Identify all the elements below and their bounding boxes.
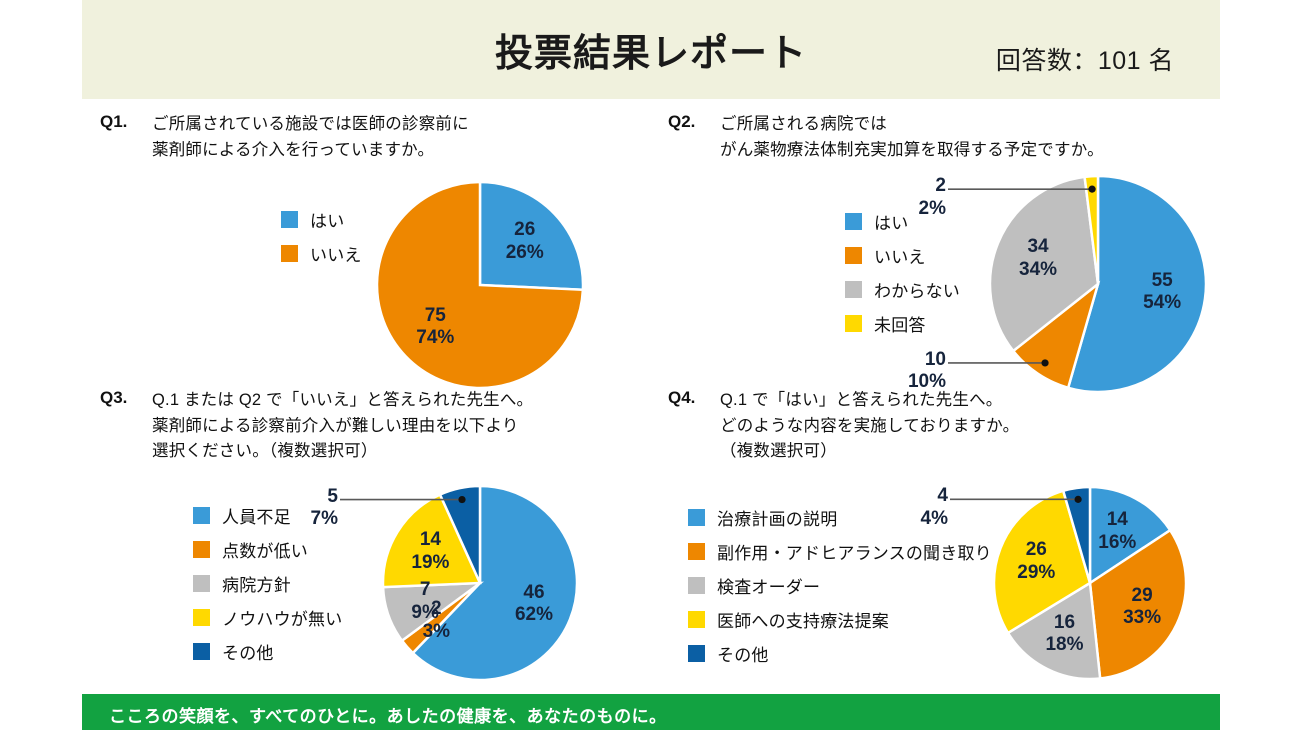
legend-swatch-icon	[193, 575, 210, 592]
legend-swatch-icon	[845, 315, 862, 332]
legend-swatch-icon	[845, 213, 862, 230]
legend-item[interactable]: 検査オーダー	[688, 568, 992, 602]
question-block-q2: Q2. ご所属される病院ではがん薬物療法体制充実加算を取得する予定ですか。 はい…	[668, 112, 1228, 382]
legend-label: 未回答	[874, 311, 926, 336]
legend-item[interactable]: いいえ	[281, 236, 362, 270]
legend-item[interactable]: いいえ	[845, 238, 960, 272]
legend-item[interactable]: 未回答	[845, 306, 960, 340]
legend-item[interactable]: その他	[193, 634, 342, 668]
footer-band: こころの笑顔を、すべてのひとに。あしたの健康を、あなたのものに。	[82, 694, 1220, 730]
legend-swatch-icon	[845, 247, 862, 264]
legend-item[interactable]: 点数が低い	[193, 532, 342, 566]
legend-label: その他	[717, 641, 769, 666]
legend-item[interactable]: はい	[281, 202, 362, 236]
question-block-q1: Q1. ご所属されている施設では医師の診察前に薬剤師による介入を行っていますか。…	[100, 112, 680, 382]
slice-data-label: 5554%	[1122, 270, 1202, 315]
legend-swatch-icon	[688, 645, 705, 662]
slice-data-label: 2629%	[996, 539, 1076, 584]
slice-data-label: 1416%	[1077, 509, 1157, 554]
q1-legend: はい いいえ	[281, 202, 362, 270]
slice-data-label: 2933%	[1102, 585, 1182, 630]
legend-swatch-icon	[281, 245, 298, 262]
report-slide: 投票結果レポート 回答数：101 名 Q1. ご所属されている施設では医師の診察…	[0, 0, 1300, 732]
q4-text: Q.1 で「はい」と答えられた先生へ。どのような内容を実施しておりますか。（複数…	[720, 388, 1228, 465]
footer-tagline: こころの笑顔を、すべてのひとに。あしたの健康を、あなたのものに。	[109, 702, 667, 727]
legend-label: 病院方針	[222, 571, 291, 596]
leader-dot	[1041, 359, 1048, 366]
legend-swatch-icon	[845, 281, 862, 298]
legend-swatch-icon	[193, 643, 210, 660]
question-block-q4: Q4. Q.1 で「はい」と答えられた先生へ。どのような内容を実施しておりますか…	[668, 388, 1228, 688]
legend-label: 検査オーダー	[717, 573, 820, 598]
slice-data-label: 4662%	[494, 582, 574, 627]
legend-swatch-icon	[688, 543, 705, 560]
legend-swatch-icon	[193, 609, 210, 626]
legend-swatch-icon	[193, 541, 210, 558]
slice-data-label: 79%	[385, 579, 465, 624]
legend-item[interactable]: ノウハウが無い	[193, 600, 342, 634]
legend-item[interactable]: 副作用・アドヒアランスの聞き取り	[688, 534, 992, 568]
q1-number: Q1.	[100, 112, 127, 132]
q4-number: Q4.	[668, 388, 695, 408]
legend-label: はい	[310, 207, 344, 232]
slice-data-label: 3434%	[998, 236, 1078, 281]
legend-label: いいえ	[874, 243, 926, 268]
q1-pie-svg	[375, 180, 585, 390]
q3-text: Q.1 または Q2 で「いいえ」と答えられた先生へ。薬剤師による診察前介入が難…	[152, 388, 680, 465]
legend-label: 点数が低い	[222, 537, 308, 562]
legend-item[interactable]: その他	[688, 636, 992, 670]
q1-pie-chart: 2626%7574%	[375, 180, 585, 390]
q2-text: ご所属される病院ではがん薬物療法体制充実加算を取得する予定ですか。	[720, 112, 1228, 163]
legend-label: 副作用・アドヒアランスの聞き取り	[717, 539, 992, 564]
response-count: 回答数：101 名	[996, 41, 1174, 77]
slice-data-label: 44%	[878, 485, 948, 530]
leader-dot	[1088, 186, 1095, 193]
leader-dot	[458, 496, 465, 503]
legend-item[interactable]: わからない	[845, 272, 960, 306]
legend-label: いいえ	[310, 241, 362, 266]
question-block-q3: Q3. Q.1 または Q2 で「いいえ」と答えられた先生へ。薬剤師による診察前…	[100, 388, 680, 688]
q2-pie-chart: 5554%1010%3434%22%	[988, 174, 1208, 394]
q3-pie-chart: 4662%23%79%1419%57%	[380, 483, 580, 683]
q3-number: Q3.	[100, 388, 127, 408]
q2-number: Q2.	[668, 112, 695, 132]
legend-swatch-icon	[281, 211, 298, 228]
legend-label: ノウハウが無い	[222, 605, 342, 630]
q4-heading: Q4. Q.1 で「はい」と答えられた先生へ。どのような内容を実施しておりますか…	[668, 388, 1228, 465]
legend-swatch-icon	[688, 611, 705, 628]
legend-swatch-icon	[688, 577, 705, 594]
q4-pie-chart: 1416%2933%1618%2629%44%	[990, 483, 1190, 683]
slice-data-label: 22%	[876, 175, 946, 220]
legend-label: わからない	[874, 277, 960, 302]
legend-swatch-icon	[193, 507, 210, 524]
slice-data-label: 1618%	[1024, 612, 1104, 657]
slice-data-label: 57%	[268, 486, 338, 531]
legend-label: その他	[222, 639, 274, 664]
slice-data-label: 1010%	[876, 349, 946, 394]
q2-legend: はい いいえ わからない 未回答	[845, 204, 960, 340]
q1-text: ご所属されている施設では医師の診察前に薬剤師による介入を行っていますか。	[152, 112, 680, 163]
q2-heading: Q2. ご所属される病院ではがん薬物療法体制充実加算を取得する予定ですか。	[668, 112, 1228, 163]
legend-swatch-icon	[688, 509, 705, 526]
legend-item[interactable]: 病院方針	[193, 566, 342, 600]
slice-data-label: 7574%	[395, 305, 475, 350]
leader-dot	[1075, 496, 1082, 503]
legend-label: 医師への支持療法提案	[717, 607, 889, 632]
header-band: 投票結果レポート 回答数：101 名	[82, 0, 1220, 99]
slice-data-label: 1419%	[390, 529, 470, 574]
legend-item[interactable]: 医師への支持療法提案	[688, 602, 992, 636]
slice-data-label: 2626%	[485, 219, 565, 264]
q3-heading: Q3. Q.1 または Q2 で「いいえ」と答えられた先生へ。薬剤師による診察前…	[100, 388, 680, 465]
legend-label: 治療計画の説明	[717, 505, 837, 530]
q1-heading: Q1. ご所属されている施設では医師の診察前に薬剤師による介入を行っていますか。	[100, 112, 680, 163]
